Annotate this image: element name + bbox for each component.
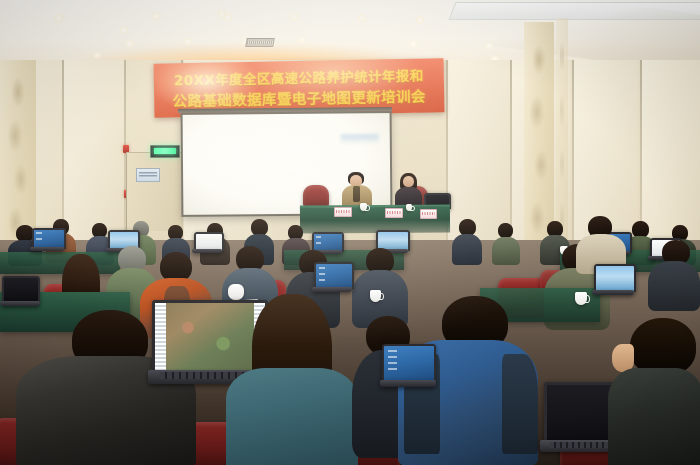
conference-photo: 20XX年度全区高速公路养护统计年报和 公路基础数据库暨电子地图更新培训会 <box>0 0 700 465</box>
laptop-base <box>380 380 436 387</box>
attendee-laptop[interactable] <box>312 262 352 294</box>
laptop-screen-blue <box>384 346 434 382</box>
audience-row-front: UCOA-INC ORIGINAL SPORT WEAR CLASSIC STY… <box>0 300 700 465</box>
attendee-foreground-center <box>226 294 358 465</box>
laptop-lid <box>2 276 40 303</box>
laptop-base <box>592 290 634 295</box>
laptop-lid <box>314 262 354 289</box>
attendee-body-teal-sweater <box>226 368 358 465</box>
attendee-laptop[interactable] <box>592 264 634 298</box>
laptop-screen-sky <box>596 266 634 292</box>
attendee-body <box>608 368 700 465</box>
attendee-head <box>498 223 513 238</box>
laptop-base <box>312 287 352 292</box>
stage-chair <box>303 185 329 207</box>
attendee-laptop[interactable] <box>380 344 436 390</box>
laptop-lid <box>594 264 636 292</box>
presenter-head <box>403 176 414 187</box>
attendee-foreground-right <box>608 318 700 465</box>
laptop-lid <box>382 344 436 382</box>
presenter-scarf <box>353 186 360 202</box>
laptop-screen-blue <box>316 264 352 289</box>
jacket-sleeve <box>502 354 538 454</box>
